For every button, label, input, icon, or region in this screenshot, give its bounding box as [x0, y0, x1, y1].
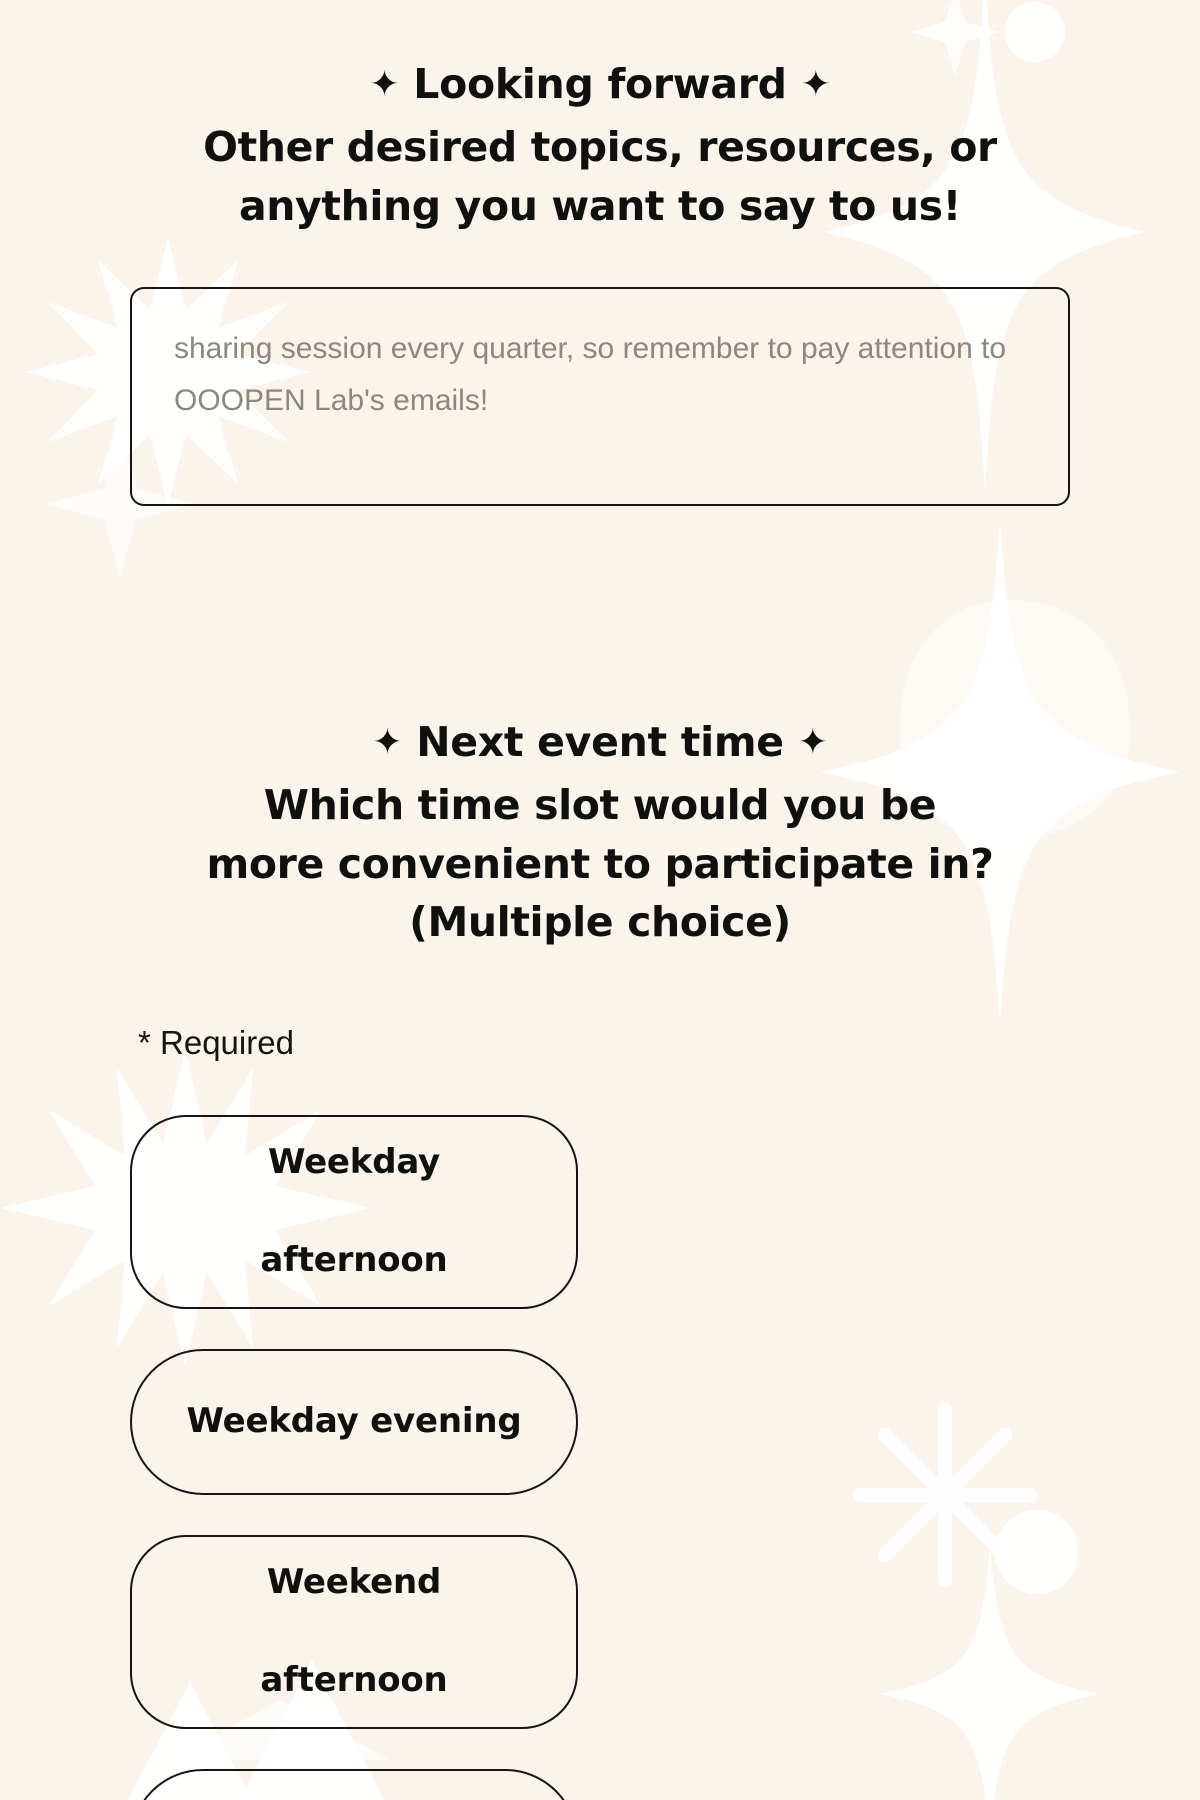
sparkle-icon-right: ✦	[801, 64, 831, 105]
question-title-looking-forward: Other desired topics, resources, or anyt…	[130, 118, 1070, 234]
answer-field-wrapper	[130, 287, 1070, 511]
open-feedback-textarea[interactable]	[130, 287, 1070, 506]
question-line-2: more convenient to participate in?	[207, 840, 994, 888]
option-label-line-1: Weekday	[260, 1138, 447, 1187]
eyebrow-label: Next event time	[416, 718, 784, 766]
option-weekend-evening[interactable]: Weekend evening	[130, 1769, 578, 1800]
required-label: * Required	[130, 1023, 1070, 1063]
section-eyebrow-looking-forward: ✦ Looking forward ✦	[130, 58, 1070, 110]
option-label: Weekday evening	[187, 1397, 522, 1446]
question-line-1: Other desired topics, resources, or	[203, 123, 997, 171]
option-weekend-afternoon[interactable]: Weekendafternoon	[130, 1535, 578, 1729]
sparkle-icon-left: ✦	[372, 722, 402, 763]
option-label: Weekendafternoon	[260, 1558, 447, 1706]
question-line-1: Which time slot would you be	[264, 781, 936, 829]
question-line-2: anything you want to say to us!	[239, 182, 961, 230]
question-line-3: (Multiple choice)	[409, 898, 791, 946]
option-weekday-afternoon[interactable]: Weekdayafternoon	[130, 1115, 578, 1309]
sparkle-icon-left: ✦	[369, 64, 399, 105]
options-group: Weekdayafternoon Weekday evening Weekend…	[130, 1115, 1070, 1800]
option-label: Weekdayafternoon	[260, 1138, 447, 1286]
eyebrow-label: Looking forward	[413, 60, 786, 108]
option-weekday-evening[interactable]: Weekday evening	[130, 1349, 578, 1495]
sparkle-icon-right: ✦	[798, 722, 828, 763]
option-label-line-2: afternoon	[260, 1236, 447, 1285]
option-label-line-2: afternoon	[260, 1656, 447, 1705]
section-eyebrow-next-event-time: ✦ Next event time ✦	[130, 716, 1070, 768]
question-title-next-event-time: Which time slot would you be more conven…	[130, 776, 1070, 951]
option-label-line-1: Weekend	[260, 1558, 447, 1607]
survey-page: ✦ Looking forward ✦ Other desired topics…	[0, 0, 1200, 1800]
section-next-event-time: ✦ Next event time ✦ Which time slot woul…	[130, 511, 1070, 1800]
section-looking-forward: ✦ Looking forward ✦ Other desired topics…	[130, 0, 1070, 511]
